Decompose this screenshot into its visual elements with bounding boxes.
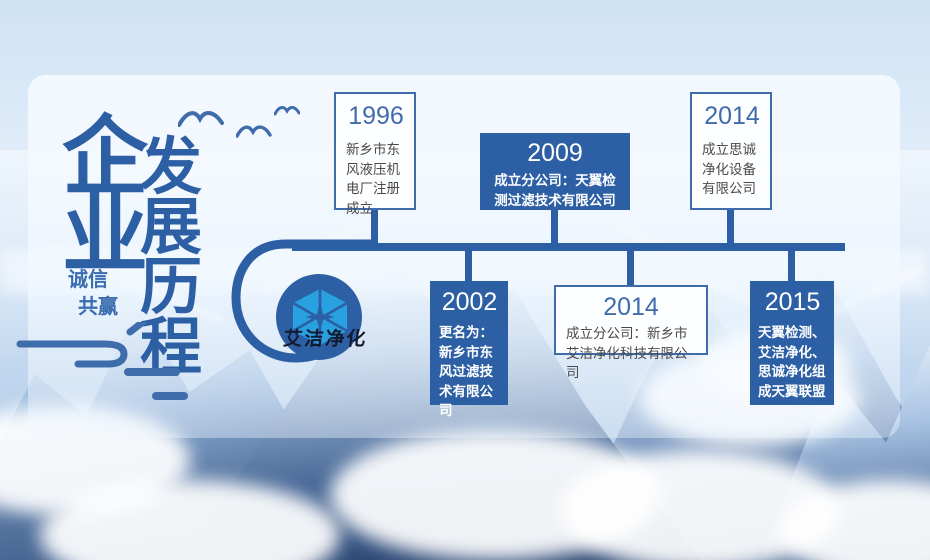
timeline-connector	[627, 249, 634, 287]
timeline-card-year: 2009	[490, 141, 620, 166]
headline-char-3: 发	[140, 138, 202, 195]
company-history-banner: 企 业 发 展 历 程 诚信 共赢 1996 新乡市东风液压机电厂注册成立 20…	[0, 0, 930, 560]
timeline-card-desc: 成立分公司：新乡市艾洁净化科技有限公司	[566, 325, 696, 384]
timeline-card-2014-bottom[interactable]: 2014 成立分公司：新乡市艾洁净化科技有限公司	[554, 285, 708, 355]
timeline-card-year: 2015	[758, 290, 827, 315]
wind-ornament-icon	[8, 322, 223, 414]
timeline-card-desc: 更名为：新乡市东风过滤技术有限公司	[439, 324, 500, 422]
timeline-card-1996[interactable]: 1996 新乡市东风液压机电厂注册成立	[334, 92, 416, 210]
timeline-card-2002[interactable]: 2002 更名为：新乡市东风过滤技术有限公司	[430, 281, 508, 405]
bird-icon	[274, 104, 300, 118]
timeline-card-desc: 成立分公司：天翼检测过滤技术有限公司	[490, 172, 620, 211]
timeline-connector	[727, 209, 734, 245]
timeline-card-desc: 成立思诚净化设备有限公司	[702, 141, 762, 200]
headline-subtitle-line-2: 共赢	[78, 294, 118, 319]
timeline-card-year: 2014	[566, 295, 696, 320]
timeline-connector	[551, 209, 558, 245]
headline-subtitle-line-1: 诚信	[68, 267, 108, 292]
logo-wordmark: 艾洁净化	[262, 324, 390, 351]
timeline-connector	[788, 249, 795, 283]
timeline-card-desc: 新乡市东风液压机电厂注册成立	[346, 141, 406, 219]
headline-char-5: 历	[140, 258, 202, 315]
timeline-connector	[465, 249, 472, 283]
timeline-card-2009[interactable]: 2009 成立分公司：天翼检测过滤技术有限公司	[480, 133, 630, 210]
headline-char-4: 展	[140, 198, 202, 255]
headline-block: 企 业 发 展 历 程 诚信 共赢	[0, 0, 260, 320]
timeline-card-desc: 天翼检测、艾洁净化、思诚净化组成天翼联盟	[758, 324, 827, 402]
headline-char-2: 业	[62, 196, 148, 275]
timeline-card-year: 2002	[439, 290, 500, 315]
timeline-card-2014-top[interactable]: 2014 成立思诚净化设备有限公司	[690, 92, 772, 210]
timeline-card-2015[interactable]: 2015 天翼检测、艾洁净化、思诚净化组成天翼联盟	[750, 281, 834, 405]
timeline-card-year: 2014	[702, 104, 762, 129]
company-logo: 艾洁净化	[243, 252, 388, 384]
timeline-card-year: 1996	[346, 104, 406, 129]
